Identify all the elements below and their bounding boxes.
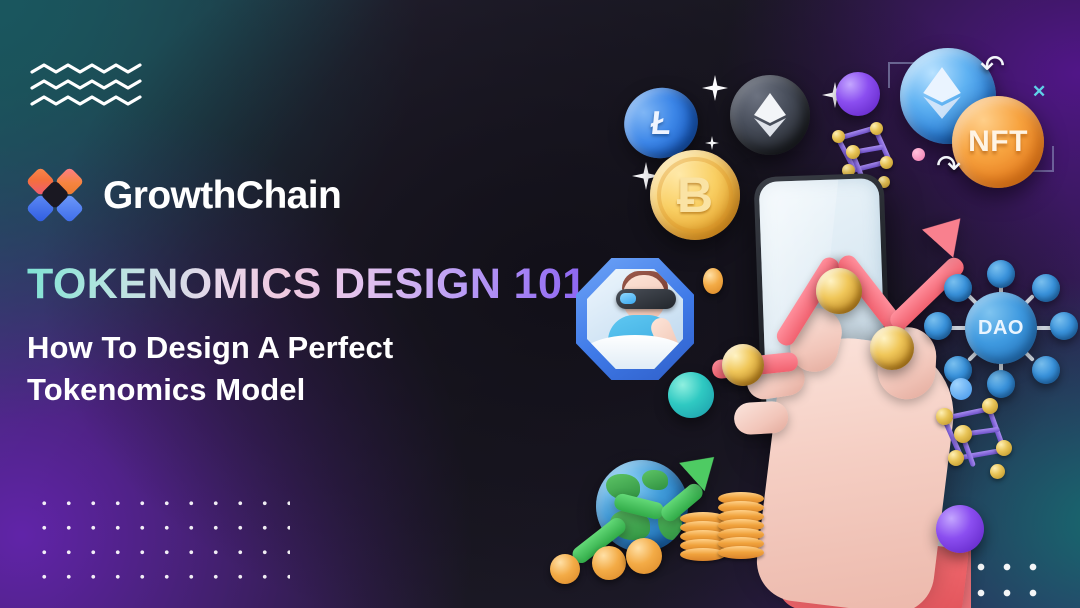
gold-coin (550, 554, 580, 584)
gold-coin (626, 538, 662, 574)
sparkle-star-icon (705, 136, 719, 150)
dao-core-node: DAO (965, 292, 1037, 364)
purple-sphere (836, 72, 880, 116)
ethereum-coin-dark-icon (730, 75, 810, 155)
close-x-icon: ✕ (1032, 82, 1046, 102)
page-title: TOKENOMICS DESIGN 101 (27, 262, 587, 307)
brand-lockup: GrowthChain (27, 164, 341, 226)
dao-node (1032, 356, 1060, 384)
crypto-illustration: Ł Ƀ NFT ↶ ↷ ✕ (540, 0, 1080, 608)
teal-sphere (668, 372, 714, 418)
cube-molecule-icon (932, 398, 1024, 488)
swap-arrow-icon: ↷ (936, 152, 961, 182)
swap-arrow-icon: ↶ (980, 52, 1005, 82)
dao-node (987, 370, 1015, 398)
blue-dot (950, 378, 972, 400)
dao-node (944, 274, 972, 302)
brand-name: GrowthChain (103, 176, 341, 215)
purple-sphere (936, 505, 984, 553)
vr-avatar-badge (576, 258, 694, 380)
dao-node (1050, 312, 1078, 340)
vr-avatar-scene (587, 269, 683, 369)
dao-label: DAO (978, 317, 1024, 340)
sparkle-star-icon (702, 75, 728, 101)
dao-node (987, 260, 1015, 288)
dao-node (924, 312, 952, 340)
dao-network-graphic: DAO (922, 252, 1080, 402)
nft-coin-icon: NFT (952, 96, 1044, 188)
pink-dot (912, 148, 925, 161)
vr-headset-icon (616, 289, 676, 309)
dao-node (1032, 274, 1060, 302)
litecoin-symbol: Ł (649, 104, 673, 142)
bitcoin-symbol: Ƀ (677, 166, 713, 224)
avatar-cloud (587, 335, 683, 369)
text-column: GrowthChain TOKENOMICS DESIGN 101 How To… (27, 0, 587, 608)
growthchain-chevron-logo-icon (27, 164, 85, 226)
gold-coin (592, 546, 626, 580)
promo-banner: GrowthChain TOKENOMICS DESIGN 101 How To… (0, 0, 1080, 608)
nft-label: NFT (968, 125, 1028, 159)
page-subtitle: How To Design A Perfect Tokenomics Model (27, 327, 393, 410)
